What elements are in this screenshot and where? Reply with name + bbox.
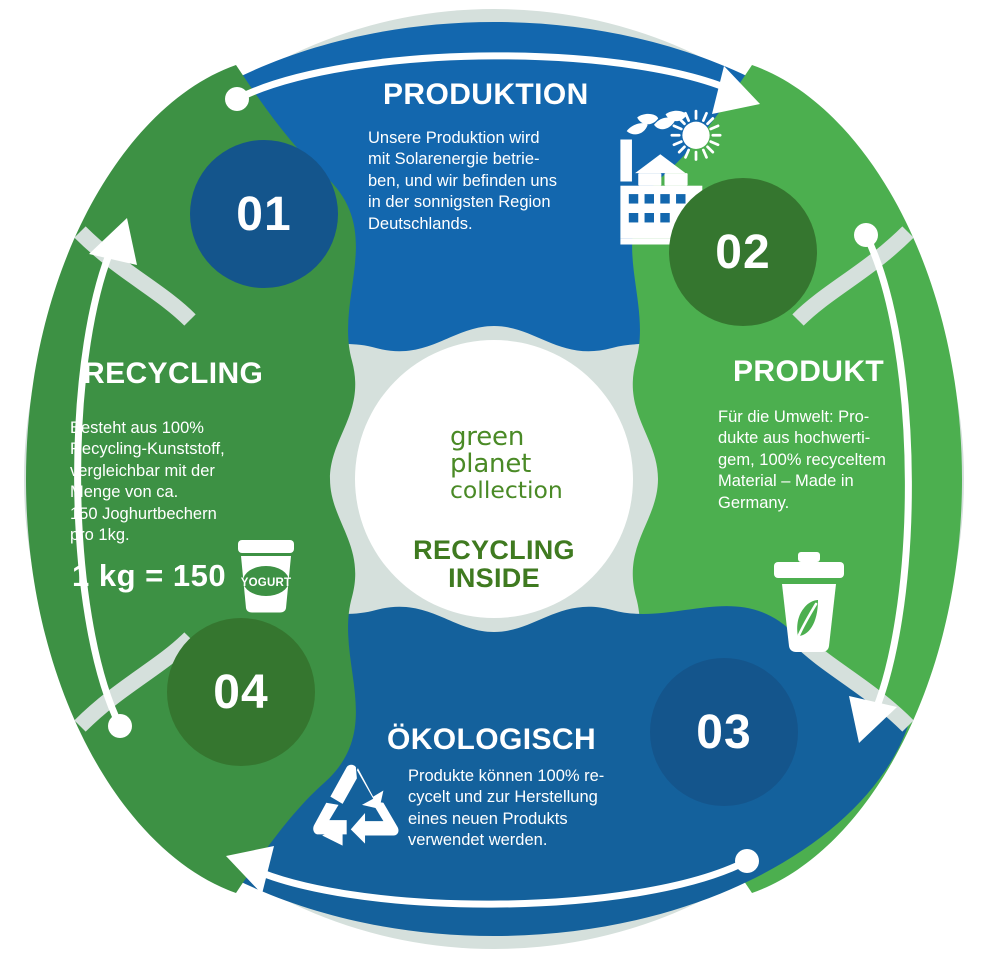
text-line: mit Solarenergie betrie- <box>368 149 600 170</box>
text-line: Besteht aus 100% <box>70 418 292 439</box>
text-line: Menge von ca. <box>70 482 292 503</box>
yogurt-cup-icon: YOGURT <box>238 540 294 613</box>
panel-body-oekologisch: Produkte können 100% re- cycelt und zur … <box>408 766 646 852</box>
text-line: verwendet werden. <box>408 830 646 851</box>
panel-title-recycling: RECYCLING <box>83 357 263 391</box>
text-line: cycelt und zur Herstellung <box>408 787 646 808</box>
text-line: 150 Joghurtbechern <box>70 504 292 525</box>
text-line: vergleichbar mit der <box>70 461 292 482</box>
panel-title-oekologisch: ÖKOLOGISCH <box>387 723 596 757</box>
text-line: Germany. <box>718 493 918 514</box>
logo-wordmark: green planet collection <box>450 424 563 503</box>
text-line: pro 1kg. <box>70 525 292 546</box>
tagline-line-recycling: RECYCLING <box>355 536 633 564</box>
infographic-canvas: YOGURT PRODUKTION Unsere Produktion wird… <box>0 0 984 960</box>
panel-body-recycling: Besteht aus 100% Recycling-Kunststoff, v… <box>70 418 292 547</box>
step-badge-01[interactable]: 01 <box>190 140 338 288</box>
text-line: in der sonnigsten Region <box>368 192 600 213</box>
text-line: Unsere Produktion wird <box>368 128 600 149</box>
logo-line-planet: planet <box>450 451 563 478</box>
text-line: Für die Umwelt: Pro- <box>718 407 918 428</box>
text-line: ben, und wir befinden uns <box>368 171 600 192</box>
panel-body-produktion: Unsere Produktion wird mit Solarenergie … <box>368 128 600 235</box>
step-badge-03[interactable]: 03 <box>650 658 798 806</box>
text-line: Material – Made in <box>718 471 918 492</box>
text-line: dukte aus hochwerti- <box>718 428 918 449</box>
text-line: Deutschlands. <box>368 214 600 235</box>
step-badge-04[interactable]: 04 <box>167 618 315 766</box>
logo-line-collection: collection <box>450 478 563 502</box>
panel-body-produkt: Für die Umwelt: Pro- dukte aus hochwerti… <box>718 407 918 514</box>
text-line: gem, 100% recyceltem <box>718 450 918 471</box>
step-badge-02[interactable]: 02 <box>669 178 817 326</box>
logo-line-green: green <box>450 424 563 451</box>
text-line: eines neuen Produkts <box>408 809 646 830</box>
panel-title-produkt: PRODUKT <box>733 355 884 389</box>
panel-title-produktion: PRODUKTION <box>383 78 589 112</box>
svg-text:YOGURT: YOGURT <box>241 577 291 589</box>
logo-tagline: RECYCLING INSIDE <box>355 536 633 593</box>
tagline-line-inside: INSIDE <box>355 564 633 592</box>
text-line: Recycling-Kunststoff, <box>70 439 292 460</box>
kg-equation-label: 1 kg = 150 <box>72 558 226 594</box>
center-logo[interactable]: green planet collection RECYCLING INSIDE <box>355 340 633 618</box>
text-line: Produkte können 100% re- <box>408 766 646 787</box>
